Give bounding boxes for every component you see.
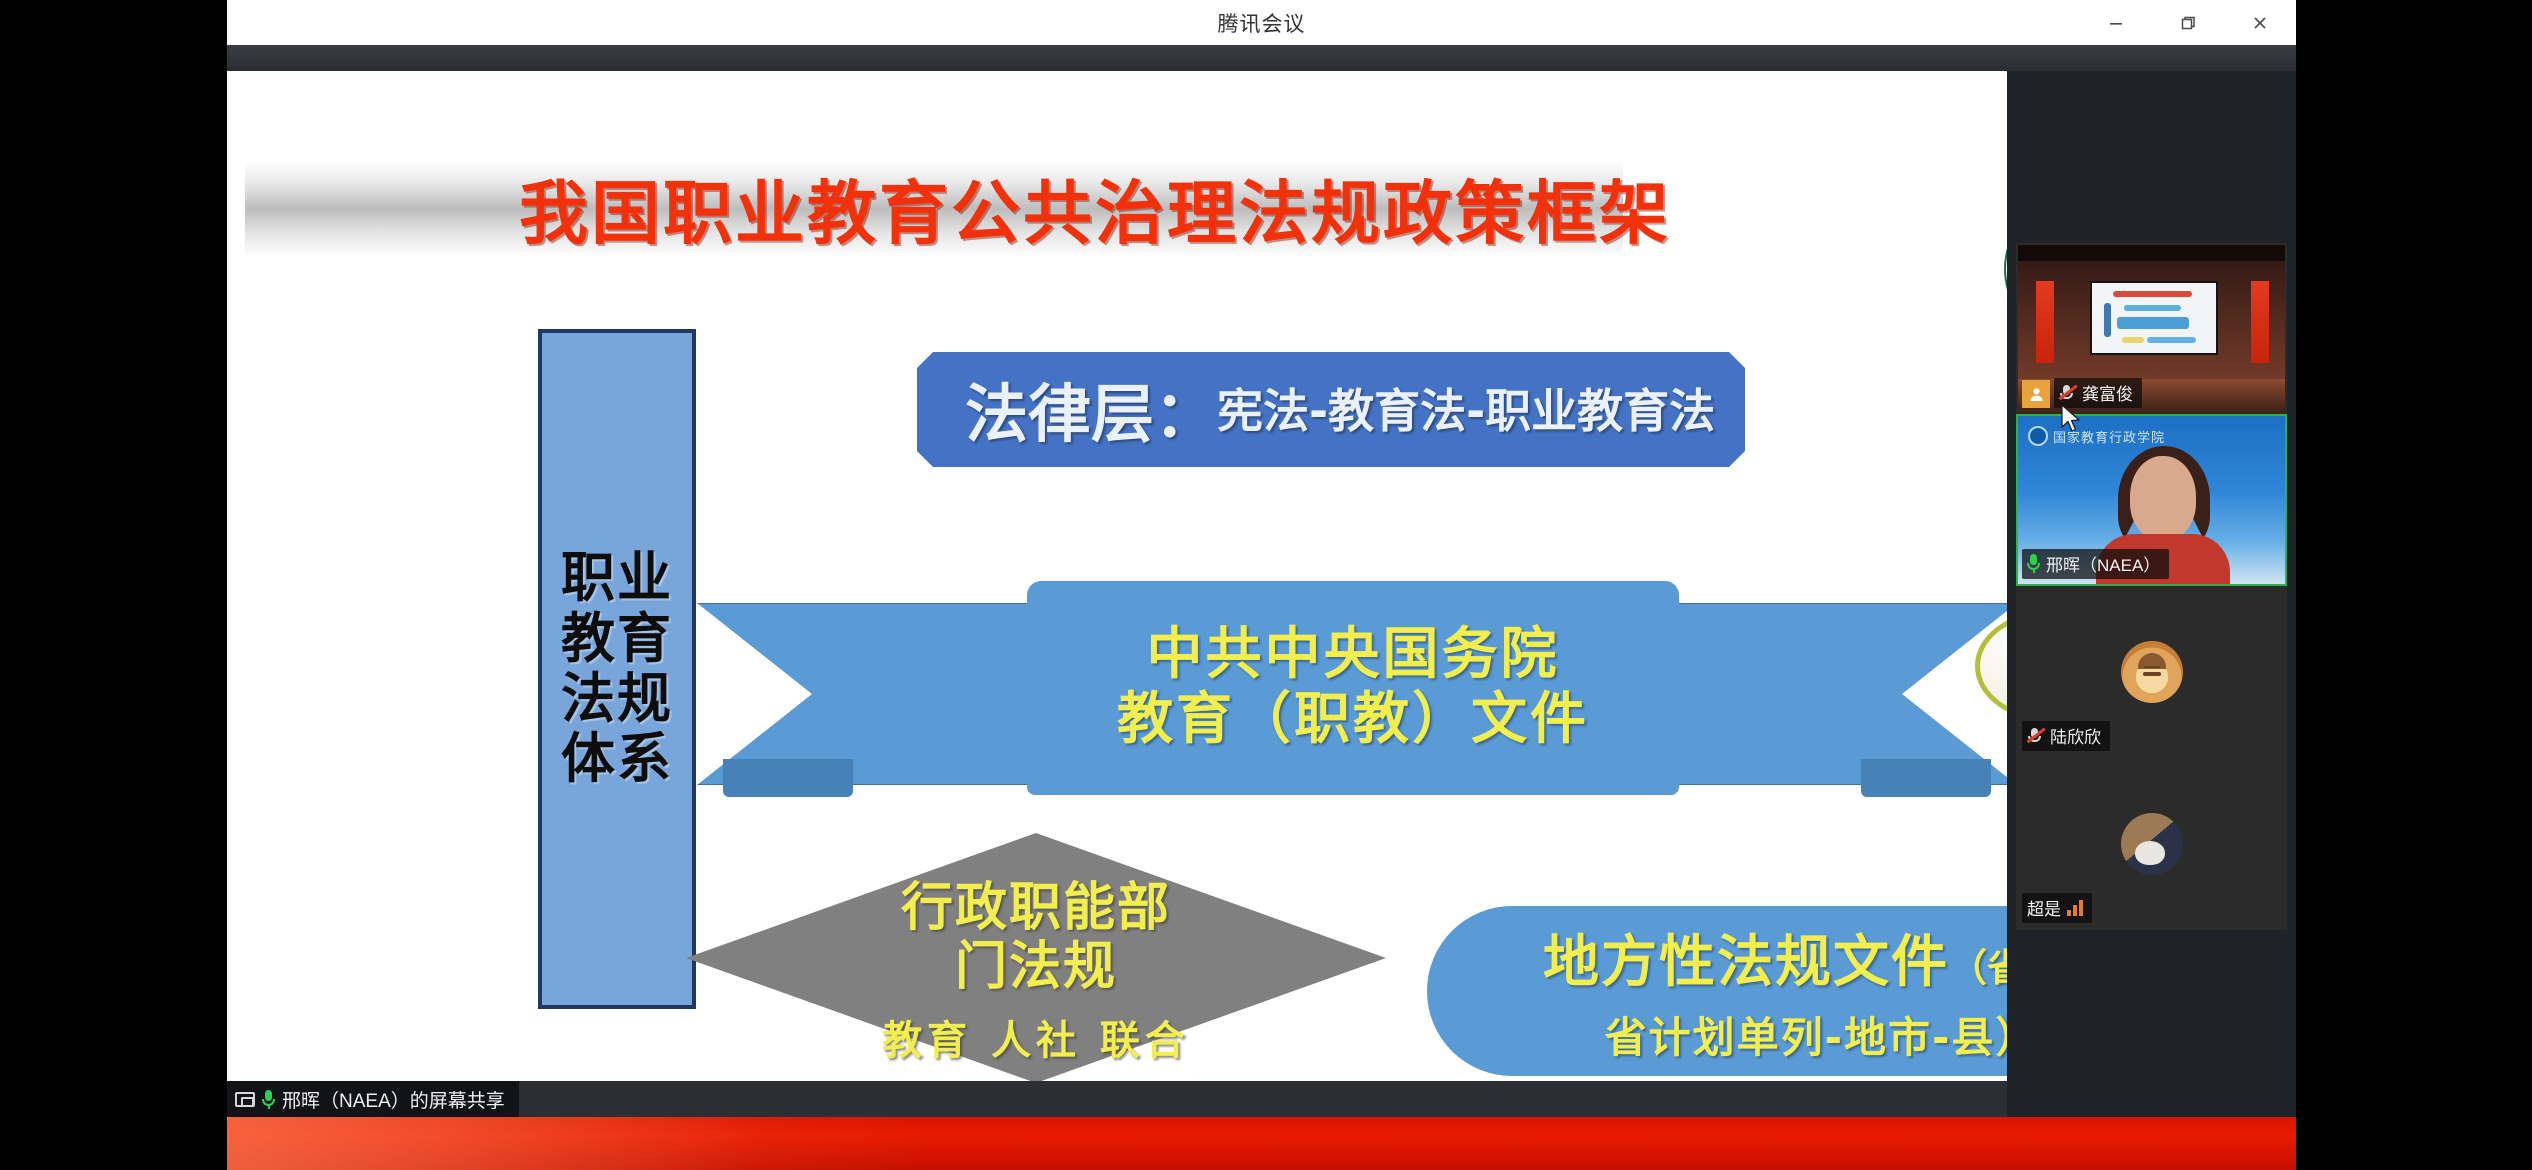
screen-share-icon [235,1092,255,1107]
banner-fold-left [723,759,853,797]
desktop-wallpaper [227,1117,2296,1170]
pill-line-2: 省计划单列-地市-县） [1605,1004,2007,1065]
law-layer-box: 法律层： 宪法-教育法-职业教育法 [917,352,1745,467]
participant-name-chip-3: 陆欣欣 [2022,721,2110,751]
participant-name-chip-4: 超是 [2022,893,2092,923]
presentation-slide: 我国职业教育公共治理法规政策框架 [227,71,2007,1081]
central-document-banner: 中共中央国务院 教育（职教）文件 [697,581,2007,806]
screen-share-label: 邢晖（NAEA）的屏幕共享 [282,1086,505,1113]
pill-suffix-label: （省、副 [1949,937,2007,992]
participant-avatar-4 [2121,813,2183,875]
banner-line-2: 教育（职教）文件 [1117,688,1589,753]
banner-core: 中共中央国务院 教育（职教）文件 [1027,581,1679,795]
close-icon[interactable] [2224,0,2296,45]
participant-name-2: 邢晖（NAEA） [2046,551,2160,576]
participant-tile-1[interactable]: 龚富俊 [2016,243,2287,415]
naea-logo-icon [1997,189,2007,349]
banner-line-1: 中共中央国务院 [1147,623,1560,688]
local-regulation-pill: 地方性法规文件 （省、副 省计划单列-地市-县） [1427,906,2007,1076]
window-titlebar[interactable]: 腾讯会议 [227,0,2296,45]
participant-name-3: 陆欣欣 [2050,723,2101,748]
pill-line-1: 地方性法规文件 （省、副 [1543,917,2007,998]
slide-title: 我国职业教育公共治理法规政策框架 [485,159,1705,255]
restore-icon[interactable] [2152,0,2224,45]
left-system-box: 职业 教育 法规 体系 [538,329,696,1009]
law-layer-label: 法律层： [965,364,1217,455]
shared-screen-area[interactable]: 我国职业教育公共治理法规政策框架 [227,71,2007,1081]
pill-main-label: 地方性法规文件 [1543,917,1949,998]
mouse-cursor-icon [2060,404,2082,434]
participant-name-4: 超是 [2027,895,2061,920]
participant-avatar-3 [2121,641,2183,703]
participant-tile-2[interactable]: 国家教育行政学院 邢晖（NAEA） [2016,414,2287,586]
minimize-icon[interactable] [2080,0,2152,45]
banner-tail-right [1647,603,2007,785]
window-controls [2080,0,2296,45]
mic-off-icon [2027,727,2044,744]
left-system-box-label: 职业 教育 法规 体系 [561,548,673,790]
participant-rail[interactable]: 龚富俊 国家教育行政学院 邢晖（NAEA） [2007,71,2296,1117]
screen-share-chip[interactable]: 邢晖（NAEA）的屏幕共享 [227,1081,519,1117]
participant-name-chip-2: 邢晖（NAEA） [2022,549,2169,579]
mic-off-icon [2059,384,2076,401]
screen-share-status-bar: 邢晖（NAEA）的屏幕共享 [227,1081,2007,1117]
signal-bars-icon [2067,900,2083,916]
mic-on-icon [262,1090,275,1109]
tencent-meeting-window: 腾讯会议 [227,0,2296,1117]
participant-name-1: 龚富俊 [2082,380,2133,405]
naea-watermark-icon: 国家教育行政学院 [2028,426,2165,446]
window-toolbar-strip [227,45,2296,71]
mic-on-icon [2027,554,2040,573]
law-layer-items: 宪法-教育法-职业教育法 [1217,375,1715,445]
screen-root: 腾讯会议 [0,0,2532,1170]
banner-tail-left [697,603,1067,785]
window-title: 腾讯会议 [1218,8,1306,38]
participant-avatar-1 [2022,380,2050,408]
banner-fold-right [1861,759,1991,797]
admin-department-diamond [686,833,1386,1081]
participant-tile-3[interactable]: 陆欣欣 [2016,586,2287,758]
participant-tile-4[interactable]: 超是 [2016,758,2287,930]
